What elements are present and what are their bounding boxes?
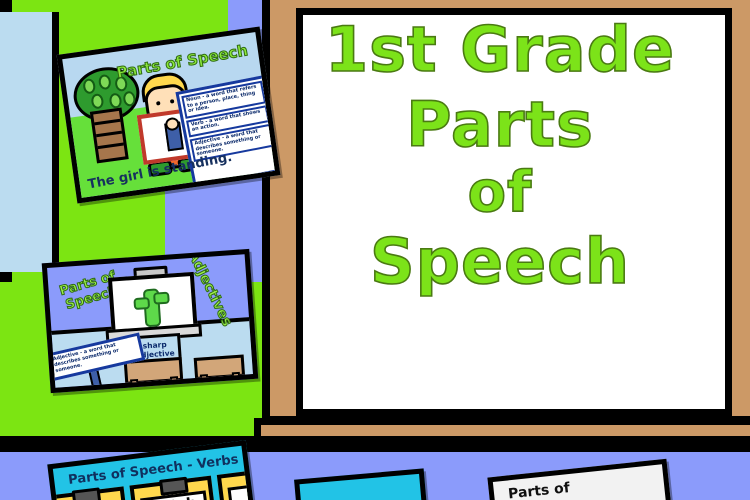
clipboard-icon bbox=[47, 486, 131, 500]
preview-card-nouns[interactable]: Parts of Speech Noun - a word that refer… bbox=[57, 26, 281, 203]
whiteboard-frame bbox=[262, 0, 750, 424]
card4-heading: Parts of bbox=[507, 480, 570, 500]
card1-heading: Parts of Speech bbox=[115, 41, 249, 82]
preview-card-adjectives[interactable]: Parts of Speech Adjectives sharp adjecti… bbox=[42, 249, 259, 393]
desk-back-icon bbox=[194, 355, 245, 380]
background-light-blue-box bbox=[0, 12, 59, 272]
poster-canvas: 1st Grade Parts of Speech bbox=[0, 0, 750, 500]
clipboard-icon: hatch bbox=[129, 476, 218, 500]
whiteboard-surface bbox=[296, 8, 732, 416]
background-black-strip bbox=[0, 436, 750, 452]
